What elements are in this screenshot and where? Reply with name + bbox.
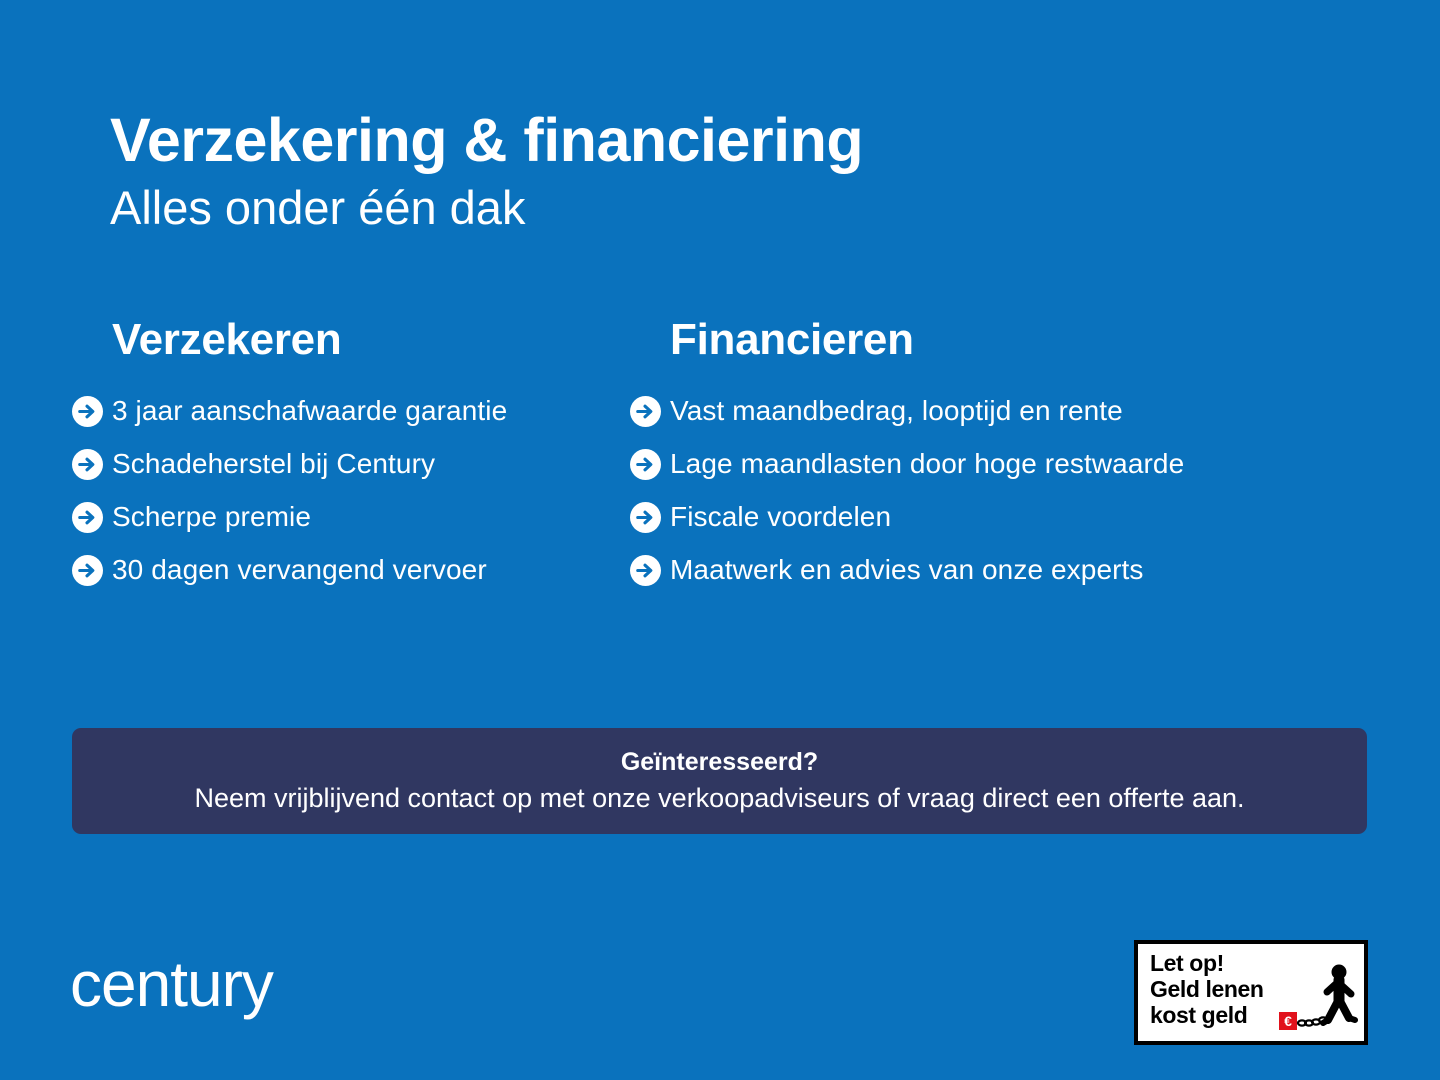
list-item: Maatwerk en advies van onze experts <box>630 550 668 590</box>
cta-banner[interactable]: Geïnteresseerd? Neem vrijblijvend contac… <box>72 728 1367 834</box>
list-item-label: Maatwerk en advies van onze experts <box>670 553 1144 587</box>
svg-text:€: € <box>1284 1013 1292 1029</box>
loan-warning-artwork: € <box>1279 960 1361 1040</box>
list-item-label: Fiscale voordelen <box>670 500 891 534</box>
cta-body: Neem vrijblijvend contact op met onze ve… <box>194 782 1244 814</box>
cta-title: Geïnteresseerd? <box>621 747 818 777</box>
arrow-right-circle-icon <box>630 502 661 533</box>
euro-block-icon: € <box>1279 1012 1297 1030</box>
century-logo: century <box>70 952 273 1016</box>
bullet-list-financieren: Vast maandbedrag, looptijd en rente Lage… <box>630 391 668 590</box>
list-item: Vast maandbedrag, looptijd en rente <box>630 391 668 431</box>
list-item-label: Vast maandbedrag, looptijd en rente <box>670 394 1123 428</box>
slide-root: Verzekering & financiering Alles onder é… <box>0 0 1440 1080</box>
header: Verzekering & financiering Alles onder é… <box>110 108 1310 235</box>
page-title: Verzekering & financiering <box>110 108 1310 174</box>
arrow-right-circle-icon <box>630 396 661 427</box>
loan-warning-badge-inner: Let op! Geld lenen kost geld € <box>1138 944 1364 1041</box>
list-item: Lage maandlasten door hoge restwaarde <box>630 444 668 484</box>
page-subtitle: Alles onder één dak <box>110 181 1310 235</box>
column-financieren: Financieren Vast maandbedrag, looptijd e… <box>0 318 668 603</box>
list-item-label: Lage maandlasten door hoge restwaarde <box>670 447 1184 481</box>
arrow-right-circle-icon <box>630 555 661 586</box>
walking-person-icon <box>1323 965 1355 1023</box>
list-item: Fiscale voordelen <box>630 497 668 537</box>
arrow-right-circle-icon <box>630 449 661 480</box>
loan-warning-badge: Let op! Geld lenen kost geld € <box>1134 940 1368 1045</box>
feature-columns: Verzekeren 3 jaar aanschafwaarde garanti… <box>0 318 1440 603</box>
